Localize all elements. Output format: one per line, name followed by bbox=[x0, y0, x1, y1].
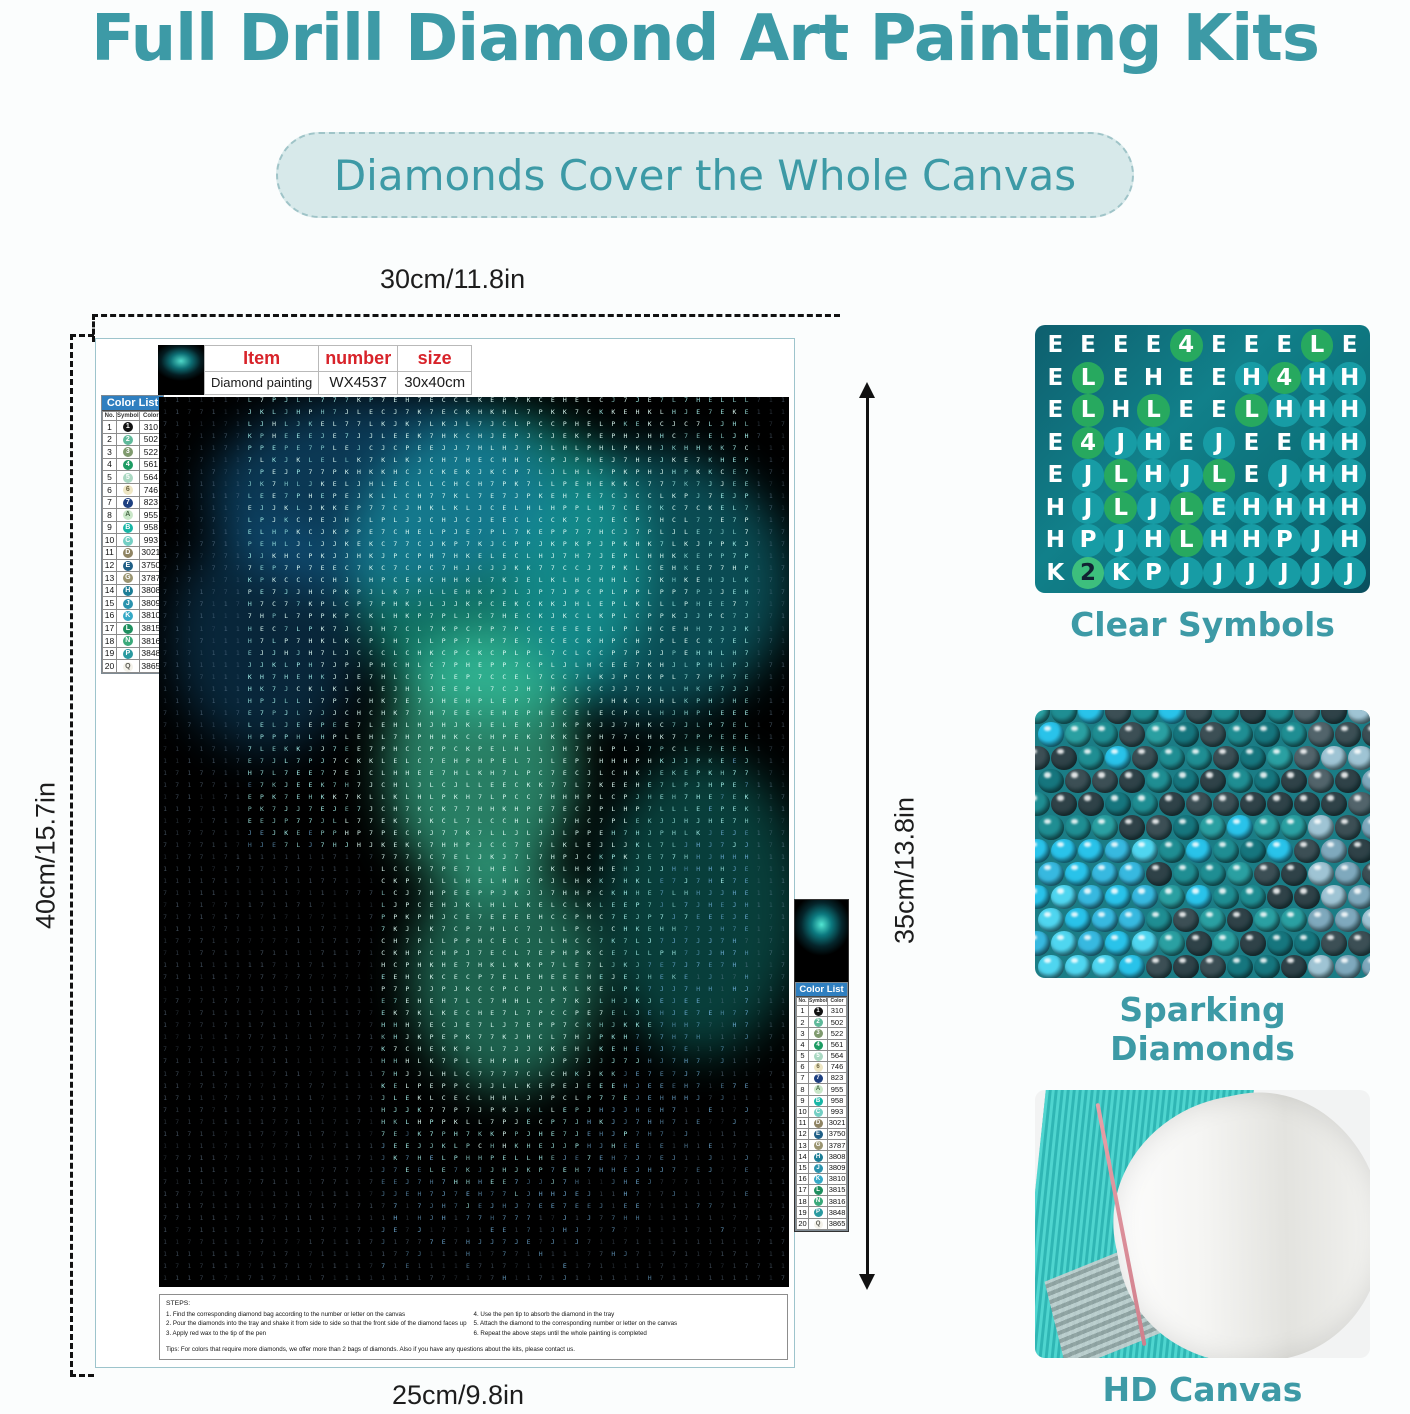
color-row-no: 19 bbox=[797, 1207, 809, 1218]
mosaic-cell: 1 bbox=[183, 710, 195, 722]
mosaic-cell: 1 bbox=[159, 1143, 171, 1155]
mosaic-cell: 7 bbox=[220, 1083, 232, 1095]
mosaic-cell: 1 bbox=[220, 662, 232, 674]
mosaic-cell: J bbox=[716, 1095, 728, 1107]
mosaic-cell: H bbox=[728, 698, 740, 710]
mosaic-cell: P bbox=[317, 722, 329, 734]
mosaic-cell: L bbox=[401, 1083, 413, 1095]
mosaic-cell: 1 bbox=[680, 1275, 692, 1287]
mosaic-cell: K bbox=[680, 698, 692, 710]
mosaic-cell: H bbox=[413, 1155, 425, 1167]
mosaic-cell: C bbox=[692, 638, 704, 650]
mosaic-cell: 1 bbox=[183, 1119, 195, 1131]
mosaic-cell: K bbox=[559, 734, 571, 746]
mosaic-cell: L bbox=[256, 746, 268, 758]
mosaic-cell: L bbox=[304, 734, 316, 746]
mosaic-cell: 1 bbox=[765, 1179, 777, 1191]
color-list-row: 16K3810 bbox=[103, 609, 163, 622]
color-list-row: 9B958 bbox=[797, 1095, 847, 1106]
step-item: 1. Find the corresponding diamond bag ac… bbox=[166, 1310, 474, 1319]
mosaic-cell: 1 bbox=[692, 1275, 704, 1287]
mosaic-cell: 1 bbox=[256, 1119, 268, 1131]
symbol-cell: J bbox=[1072, 492, 1105, 525]
color-row-code: 3021 bbox=[828, 1117, 847, 1128]
mosaic-cell: 7 bbox=[389, 734, 401, 746]
mosaic-cell: 1 bbox=[207, 1275, 219, 1287]
col-header-symbol: Symbol bbox=[809, 998, 828, 1006]
diamond-bead bbox=[1146, 908, 1172, 932]
mosaic-cell: 7 bbox=[171, 638, 183, 650]
mosaic-cell: L bbox=[498, 722, 510, 734]
mosaic-cell: 1 bbox=[292, 1119, 304, 1131]
mosaic-cell: C bbox=[632, 613, 644, 625]
diamond-bead bbox=[1146, 815, 1172, 839]
step-item: 3. Apply red wax to the tip of the pen bbox=[166, 1329, 474, 1338]
mosaic-cell: J bbox=[668, 1191, 680, 1203]
mosaic-cell: 1 bbox=[207, 638, 219, 650]
diamond-bead bbox=[1362, 769, 1370, 793]
mosaic-cell: J bbox=[486, 1167, 498, 1179]
mosaic-cell: H bbox=[680, 1143, 692, 1155]
mosaic-cell: P bbox=[317, 613, 329, 625]
mosaic-cell: 1 bbox=[692, 1155, 704, 1167]
mosaic-cell: P bbox=[486, 1107, 498, 1119]
mosaic-cell: H bbox=[644, 1119, 656, 1131]
mosaic-cell: 1 bbox=[159, 1167, 171, 1179]
mosaic-cell: E bbox=[607, 662, 619, 674]
diamond-bead bbox=[1078, 710, 1104, 724]
mosaic-cell: 1 bbox=[668, 1275, 680, 1287]
color-row-symbol: 4 bbox=[117, 458, 140, 471]
mosaic-cell: 1 bbox=[195, 722, 207, 734]
mosaic-cell: P bbox=[256, 734, 268, 746]
mosaic-cell: 7 bbox=[183, 1131, 195, 1143]
mosaic-cell: J bbox=[450, 722, 462, 734]
mosaic-cell: E bbox=[510, 734, 522, 746]
mosaic-cell: C bbox=[607, 710, 619, 722]
mosaic-cell: E bbox=[559, 626, 571, 638]
symbol-cell: 4 bbox=[1170, 329, 1203, 362]
diamond-bead bbox=[1200, 955, 1226, 978]
mosaic-cell: C bbox=[522, 626, 534, 638]
mosaic-cell: 1 bbox=[268, 1167, 280, 1179]
mosaic-cell: 1 bbox=[232, 650, 244, 662]
diamond-bead bbox=[1092, 955, 1118, 978]
diamond-bead bbox=[1159, 792, 1185, 816]
mosaic-cell: E bbox=[462, 710, 474, 722]
diamond-bead bbox=[1173, 862, 1199, 886]
diamond-bead bbox=[1213, 839, 1239, 863]
symbol-cell: H bbox=[1301, 394, 1334, 427]
mosaic-cell: H bbox=[656, 662, 668, 674]
mosaic-cell: 1 bbox=[583, 1275, 595, 1287]
mosaic-cell: 7 bbox=[438, 1058, 450, 1070]
mosaic-cell: 1 bbox=[777, 1191, 789, 1203]
mosaic-cell: 7 bbox=[668, 734, 680, 746]
mosaic-cell: 1 bbox=[232, 686, 244, 698]
mosaic-cell: H bbox=[244, 734, 256, 746]
mosaic-cell: L bbox=[474, 1119, 486, 1131]
mosaic-cell: 7 bbox=[644, 1155, 656, 1167]
mosaic-cell: 7 bbox=[498, 638, 510, 650]
mosaic-cell: 1 bbox=[195, 650, 207, 662]
mosaic-cell: H bbox=[450, 1131, 462, 1143]
mosaic-cell: K bbox=[704, 638, 716, 650]
mosaic-cell: 7 bbox=[753, 1058, 765, 1070]
mosaic-cell: K bbox=[292, 746, 304, 758]
mosaic-cell: 7 bbox=[510, 1179, 522, 1191]
mosaic-cell: 7 bbox=[692, 1058, 704, 1070]
mosaic-cell: E bbox=[450, 698, 462, 710]
mosaic-cell: J bbox=[341, 626, 353, 638]
mosaic-cell: 1 bbox=[171, 1167, 183, 1179]
mosaic-cell: H bbox=[256, 613, 268, 625]
mosaic-cell: 7 bbox=[571, 674, 583, 686]
mosaic-cell: L bbox=[268, 722, 280, 734]
color-list-row: 15J3809 bbox=[103, 597, 163, 610]
mosaic-cell: 1 bbox=[207, 613, 219, 625]
mosaic-cell: 7 bbox=[232, 710, 244, 722]
mosaic-cell: L bbox=[583, 674, 595, 686]
mosaic-cell: 1 bbox=[207, 734, 219, 746]
mosaic-cell: P bbox=[571, 1143, 583, 1155]
mosaic-cell: L bbox=[341, 734, 353, 746]
mosaic-cell: E bbox=[474, 1058, 486, 1070]
mosaic-cell: 1 bbox=[777, 613, 789, 625]
mosaic-cell: J bbox=[401, 1071, 413, 1083]
mosaic-cell: 1 bbox=[765, 674, 777, 686]
color-list-row: 33522 bbox=[103, 446, 163, 459]
mosaic-cell: 7 bbox=[268, 1071, 280, 1083]
mosaic-cell: L bbox=[450, 1143, 462, 1155]
mosaic-cell: 7 bbox=[329, 1119, 341, 1131]
mosaic-cell: 1 bbox=[220, 1058, 232, 1070]
mosaic-cell: 1 bbox=[607, 1191, 619, 1203]
mosaic-cell: J bbox=[595, 1058, 607, 1070]
mosaic-cell: 1 bbox=[220, 686, 232, 698]
diamond-bead bbox=[1051, 885, 1077, 909]
mosaic-cell: J bbox=[401, 1107, 413, 1119]
mosaic-cell: E bbox=[571, 1191, 583, 1203]
color-row-no: 12 bbox=[103, 559, 117, 572]
mosaic-cell: 1 bbox=[304, 1143, 316, 1155]
mosaic-cell: C bbox=[656, 626, 668, 638]
mosaic-cell: E bbox=[401, 1095, 413, 1107]
mosaic-cell: P bbox=[280, 734, 292, 746]
diamond-bead bbox=[1362, 862, 1370, 886]
mosaic-cell: H bbox=[680, 626, 692, 638]
symbol-cell: H bbox=[1104, 394, 1137, 427]
mosaic-cell: C bbox=[547, 674, 559, 686]
mosaic-cell: 7 bbox=[486, 1071, 498, 1083]
mosaic-cell: 7 bbox=[317, 1107, 329, 1119]
diamond-bead bbox=[1267, 885, 1293, 909]
mosaic-cell: 7 bbox=[462, 638, 474, 650]
mosaic-cell: C bbox=[450, 746, 462, 758]
symbol-cell: J bbox=[1104, 427, 1137, 460]
mosaic-cell: L bbox=[413, 662, 425, 674]
mosaic-cell: 1 bbox=[171, 1275, 183, 1287]
color-list-header-row: No. Symbol Color bbox=[797, 998, 847, 1006]
mosaic-cell: H bbox=[498, 613, 510, 625]
mosaic-cell: L bbox=[365, 722, 377, 734]
mosaic-cell: K bbox=[595, 1071, 607, 1083]
mosaic-cell: E bbox=[741, 710, 753, 722]
mosaic-cell: J bbox=[559, 1275, 571, 1287]
mosaic-cell: H bbox=[304, 650, 316, 662]
steps-column-left: 1. Find the corresponding diamond bag ac… bbox=[166, 1310, 474, 1338]
mosaic-cell: E bbox=[571, 626, 583, 638]
symbol-cell: E bbox=[1104, 362, 1137, 395]
symbol-cell: L bbox=[1104, 459, 1137, 492]
mosaic-cell: 1 bbox=[765, 1155, 777, 1167]
color-row-no: 20 bbox=[103, 660, 117, 673]
diamond-bead bbox=[1281, 908, 1307, 932]
color-row-code: 561 bbox=[828, 1039, 847, 1050]
mosaic-cell: 1 bbox=[207, 1083, 219, 1095]
mosaic-cell: L bbox=[547, 662, 559, 674]
clear-symbols-image: EEEE4EEELEELEHEEH4HHELHLEELHHHE4JHEJEEHH… bbox=[1035, 325, 1370, 593]
mosaic-cell: L bbox=[680, 746, 692, 758]
mosaic-cell: 7 bbox=[256, 1179, 268, 1191]
mosaic-cell: 1 bbox=[753, 1167, 765, 1179]
mosaic-cell: E bbox=[741, 1191, 753, 1203]
mosaic-cell: 7 bbox=[704, 1071, 716, 1083]
mosaic-cell: H bbox=[292, 734, 304, 746]
mosaic-cell: 7 bbox=[232, 1191, 244, 1203]
diamond-bead bbox=[1105, 710, 1131, 724]
mosaic-cell: 7 bbox=[317, 1083, 329, 1095]
mosaic-cell: 1 bbox=[365, 1275, 377, 1287]
mosaic-cell: H bbox=[583, 746, 595, 758]
mosaic-cell: 7 bbox=[644, 1071, 656, 1083]
color-row-no: 3 bbox=[797, 1028, 809, 1039]
mosaic-cell: J bbox=[607, 1119, 619, 1131]
mosaic-cell: J bbox=[741, 613, 753, 625]
mosaic-cell: 7 bbox=[183, 1155, 195, 1167]
symbol-cell: E bbox=[1072, 329, 1105, 362]
mosaic-cell: 7 bbox=[716, 1167, 728, 1179]
mosaic-cell: E bbox=[450, 686, 462, 698]
mosaic-cell: H bbox=[680, 710, 692, 722]
diamond-bead bbox=[1308, 908, 1334, 932]
mosaic-cell: E bbox=[413, 1167, 425, 1179]
mosaic-cell: L bbox=[535, 1071, 547, 1083]
mosaic-cell: E bbox=[741, 674, 753, 686]
mosaic-cell: E bbox=[741, 698, 753, 710]
mosaic-cell: C bbox=[595, 662, 607, 674]
mosaic-cell: 7 bbox=[777, 746, 789, 758]
mosaic-cell: 7 bbox=[365, 674, 377, 686]
symbol-cell: E bbox=[1235, 459, 1268, 492]
mosaic-cell: 1 bbox=[220, 650, 232, 662]
mosaic-cell: 1 bbox=[753, 1119, 765, 1131]
color-list-row: 11310 bbox=[797, 1006, 847, 1017]
diamond-bead bbox=[1227, 722, 1253, 746]
mosaic-cell: P bbox=[535, 1167, 547, 1179]
mosaic-cell: 7 bbox=[329, 1071, 341, 1083]
mosaic-cell: E bbox=[656, 1083, 668, 1095]
color-list-row: 44561 bbox=[797, 1039, 847, 1050]
mosaic-cell: H bbox=[389, 746, 401, 758]
symbol-cell: E bbox=[1039, 362, 1072, 395]
mosaic-cell: 1 bbox=[292, 1143, 304, 1155]
color-row-no: 16 bbox=[797, 1173, 809, 1184]
mosaic-cell: 1 bbox=[777, 650, 789, 662]
color-row-code: 502 bbox=[828, 1017, 847, 1028]
mosaic-cell: K bbox=[522, 1083, 534, 1095]
diamond-bead bbox=[1321, 792, 1347, 816]
mosaic-cell: E bbox=[292, 674, 304, 686]
mosaic-cell: 7 bbox=[559, 1119, 571, 1131]
mosaic-cell: L bbox=[401, 722, 413, 734]
mosaic-cell: 1 bbox=[171, 650, 183, 662]
mosaic-cell: 1 bbox=[341, 1275, 353, 1287]
symbol-cell: H bbox=[1301, 362, 1334, 395]
mosaic-cell: J bbox=[559, 1191, 571, 1203]
mosaic-cell: P bbox=[450, 638, 462, 650]
mosaic-cell: E bbox=[583, 626, 595, 638]
mosaic-cell: C bbox=[498, 686, 510, 698]
mosaic-cell: 1 bbox=[292, 1058, 304, 1070]
mosaic-cell: E bbox=[438, 686, 450, 698]
mosaic-cell: 1 bbox=[728, 1095, 740, 1107]
symbol-cell: H bbox=[1268, 394, 1301, 427]
mosaic-cell: J bbox=[644, 650, 656, 662]
color-row-symbol: 6 bbox=[809, 1061, 828, 1072]
mosaic-cell: H bbox=[547, 686, 559, 698]
mosaic-cell: J bbox=[547, 746, 559, 758]
diamond-bead bbox=[1132, 839, 1158, 863]
diamond-bead bbox=[1308, 769, 1334, 793]
mosaic-cell: E bbox=[728, 722, 740, 734]
mosaic-cell: 7 bbox=[353, 722, 365, 734]
mosaic-cell: E bbox=[692, 1167, 704, 1179]
mosaic-cell: 1 bbox=[232, 638, 244, 650]
mosaic-cell: E bbox=[668, 626, 680, 638]
mosaic-cell: P bbox=[692, 698, 704, 710]
mosaic-cell: P bbox=[438, 613, 450, 625]
color-row-symbol: H bbox=[117, 584, 140, 597]
mosaic-cell: K bbox=[329, 613, 341, 625]
mosaic-cell: 7 bbox=[171, 1191, 183, 1203]
mosaic-cell: 1 bbox=[692, 1143, 704, 1155]
diamond-bead bbox=[1078, 885, 1104, 909]
mosaic-cell: P bbox=[498, 734, 510, 746]
mosaic-cell: 7 bbox=[765, 650, 777, 662]
diamond-bead bbox=[1119, 908, 1145, 932]
mosaic-cell: J bbox=[583, 1058, 595, 1070]
mosaic-cell: L bbox=[632, 626, 644, 638]
color-row-code: 310 bbox=[828, 1006, 847, 1017]
diamond-bead bbox=[1065, 908, 1091, 932]
mosaic-cell: 1 bbox=[195, 662, 207, 674]
diamond-bead bbox=[1335, 908, 1361, 932]
mosaic-cell: 1 bbox=[389, 1275, 401, 1287]
mosaic-cell: L bbox=[426, 1095, 438, 1107]
mosaic-cell: H bbox=[426, 734, 438, 746]
mosaic-cell: P bbox=[728, 662, 740, 674]
mosaic-cell: 7 bbox=[644, 746, 656, 758]
mosaic-cell: L bbox=[292, 710, 304, 722]
symbol-cell: H bbox=[1137, 362, 1170, 395]
mosaic-cell: C bbox=[547, 638, 559, 650]
mosaic-cell: 7 bbox=[401, 1155, 413, 1167]
mosaic-cell: P bbox=[656, 674, 668, 686]
mosaic-cell: C bbox=[595, 686, 607, 698]
mosaic-cell: 1 bbox=[341, 1083, 353, 1095]
mosaic-cell: 7 bbox=[304, 1071, 316, 1083]
symbol-cell: J bbox=[1203, 557, 1236, 590]
mosaic-cell: C bbox=[462, 1071, 474, 1083]
mosaic-cell: 1 bbox=[777, 626, 789, 638]
mosaic-cell: 1 bbox=[220, 1191, 232, 1203]
mosaic-cell: 7 bbox=[256, 1143, 268, 1155]
color-row-symbol: D bbox=[117, 546, 140, 559]
mosaic-cell: C bbox=[353, 698, 365, 710]
mosaic-cell: 1 bbox=[244, 1058, 256, 1070]
mosaic-cell: 1 bbox=[159, 734, 171, 746]
mosaic-cell: P bbox=[438, 638, 450, 650]
color-row-no: 1 bbox=[103, 421, 117, 434]
mosaic-cell: 1 bbox=[353, 1191, 365, 1203]
symbol-cell: E bbox=[1170, 427, 1203, 460]
symbol-cell: J bbox=[1170, 459, 1203, 492]
mosaic-cell: P bbox=[607, 638, 619, 650]
mosaic-cell: 1 bbox=[753, 1143, 765, 1155]
mosaic-cell: 1 bbox=[171, 710, 183, 722]
mosaic-cell: 7 bbox=[220, 1143, 232, 1155]
step-item: 4. Use the pen tip to absorb the diamond… bbox=[474, 1310, 782, 1319]
mosaic-cell: 7 bbox=[195, 674, 207, 686]
mosaic-cell: E bbox=[716, 710, 728, 722]
mosaic-cell: L bbox=[426, 1071, 438, 1083]
mosaic-cell: 1 bbox=[765, 1095, 777, 1107]
diamond-bead bbox=[1348, 885, 1370, 909]
mosaic-cell: 1 bbox=[728, 1155, 740, 1167]
mosaic-cell: 7 bbox=[668, 1167, 680, 1179]
mosaic-cell: 1 bbox=[292, 1083, 304, 1095]
mosaic-cell: E bbox=[619, 1095, 631, 1107]
mosaic-cell: P bbox=[438, 746, 450, 758]
mosaic-cell: C bbox=[571, 613, 583, 625]
mosaic-cell: J bbox=[329, 662, 341, 674]
mosaic-cell: 7 bbox=[692, 674, 704, 686]
mosaic-cell: 1 bbox=[353, 1275, 365, 1287]
mosaic-cell: 1 bbox=[207, 1191, 219, 1203]
mosaic-cell: E bbox=[510, 613, 522, 625]
mosaic-cell: P bbox=[498, 1131, 510, 1143]
mosaic-cell: 7 bbox=[256, 1131, 268, 1143]
mosaic-cell: 1 bbox=[365, 1095, 377, 1107]
mosaic-cell: L bbox=[619, 613, 631, 625]
mosaic-cell: 7 bbox=[559, 1179, 571, 1191]
mosaic-cell: P bbox=[522, 710, 534, 722]
mosaic-cell: J bbox=[668, 662, 680, 674]
mosaic-cell: E bbox=[450, 1095, 462, 1107]
color-row-symbol: L bbox=[809, 1185, 828, 1196]
mosaic-cell: H bbox=[680, 1083, 692, 1095]
mosaic-cell: 7 bbox=[244, 613, 256, 625]
mosaic-cell: 7 bbox=[268, 686, 280, 698]
mosaic-cell: 7 bbox=[728, 1107, 740, 1119]
color-row-code: 993 bbox=[828, 1106, 847, 1117]
mosaic-cell: 7 bbox=[535, 698, 547, 710]
inset-thumbnail-icon bbox=[795, 900, 848, 982]
color-row-symbol: 3 bbox=[809, 1028, 828, 1039]
mosaic-cell: 7 bbox=[304, 1167, 316, 1179]
mosaic-cell: E bbox=[680, 638, 692, 650]
